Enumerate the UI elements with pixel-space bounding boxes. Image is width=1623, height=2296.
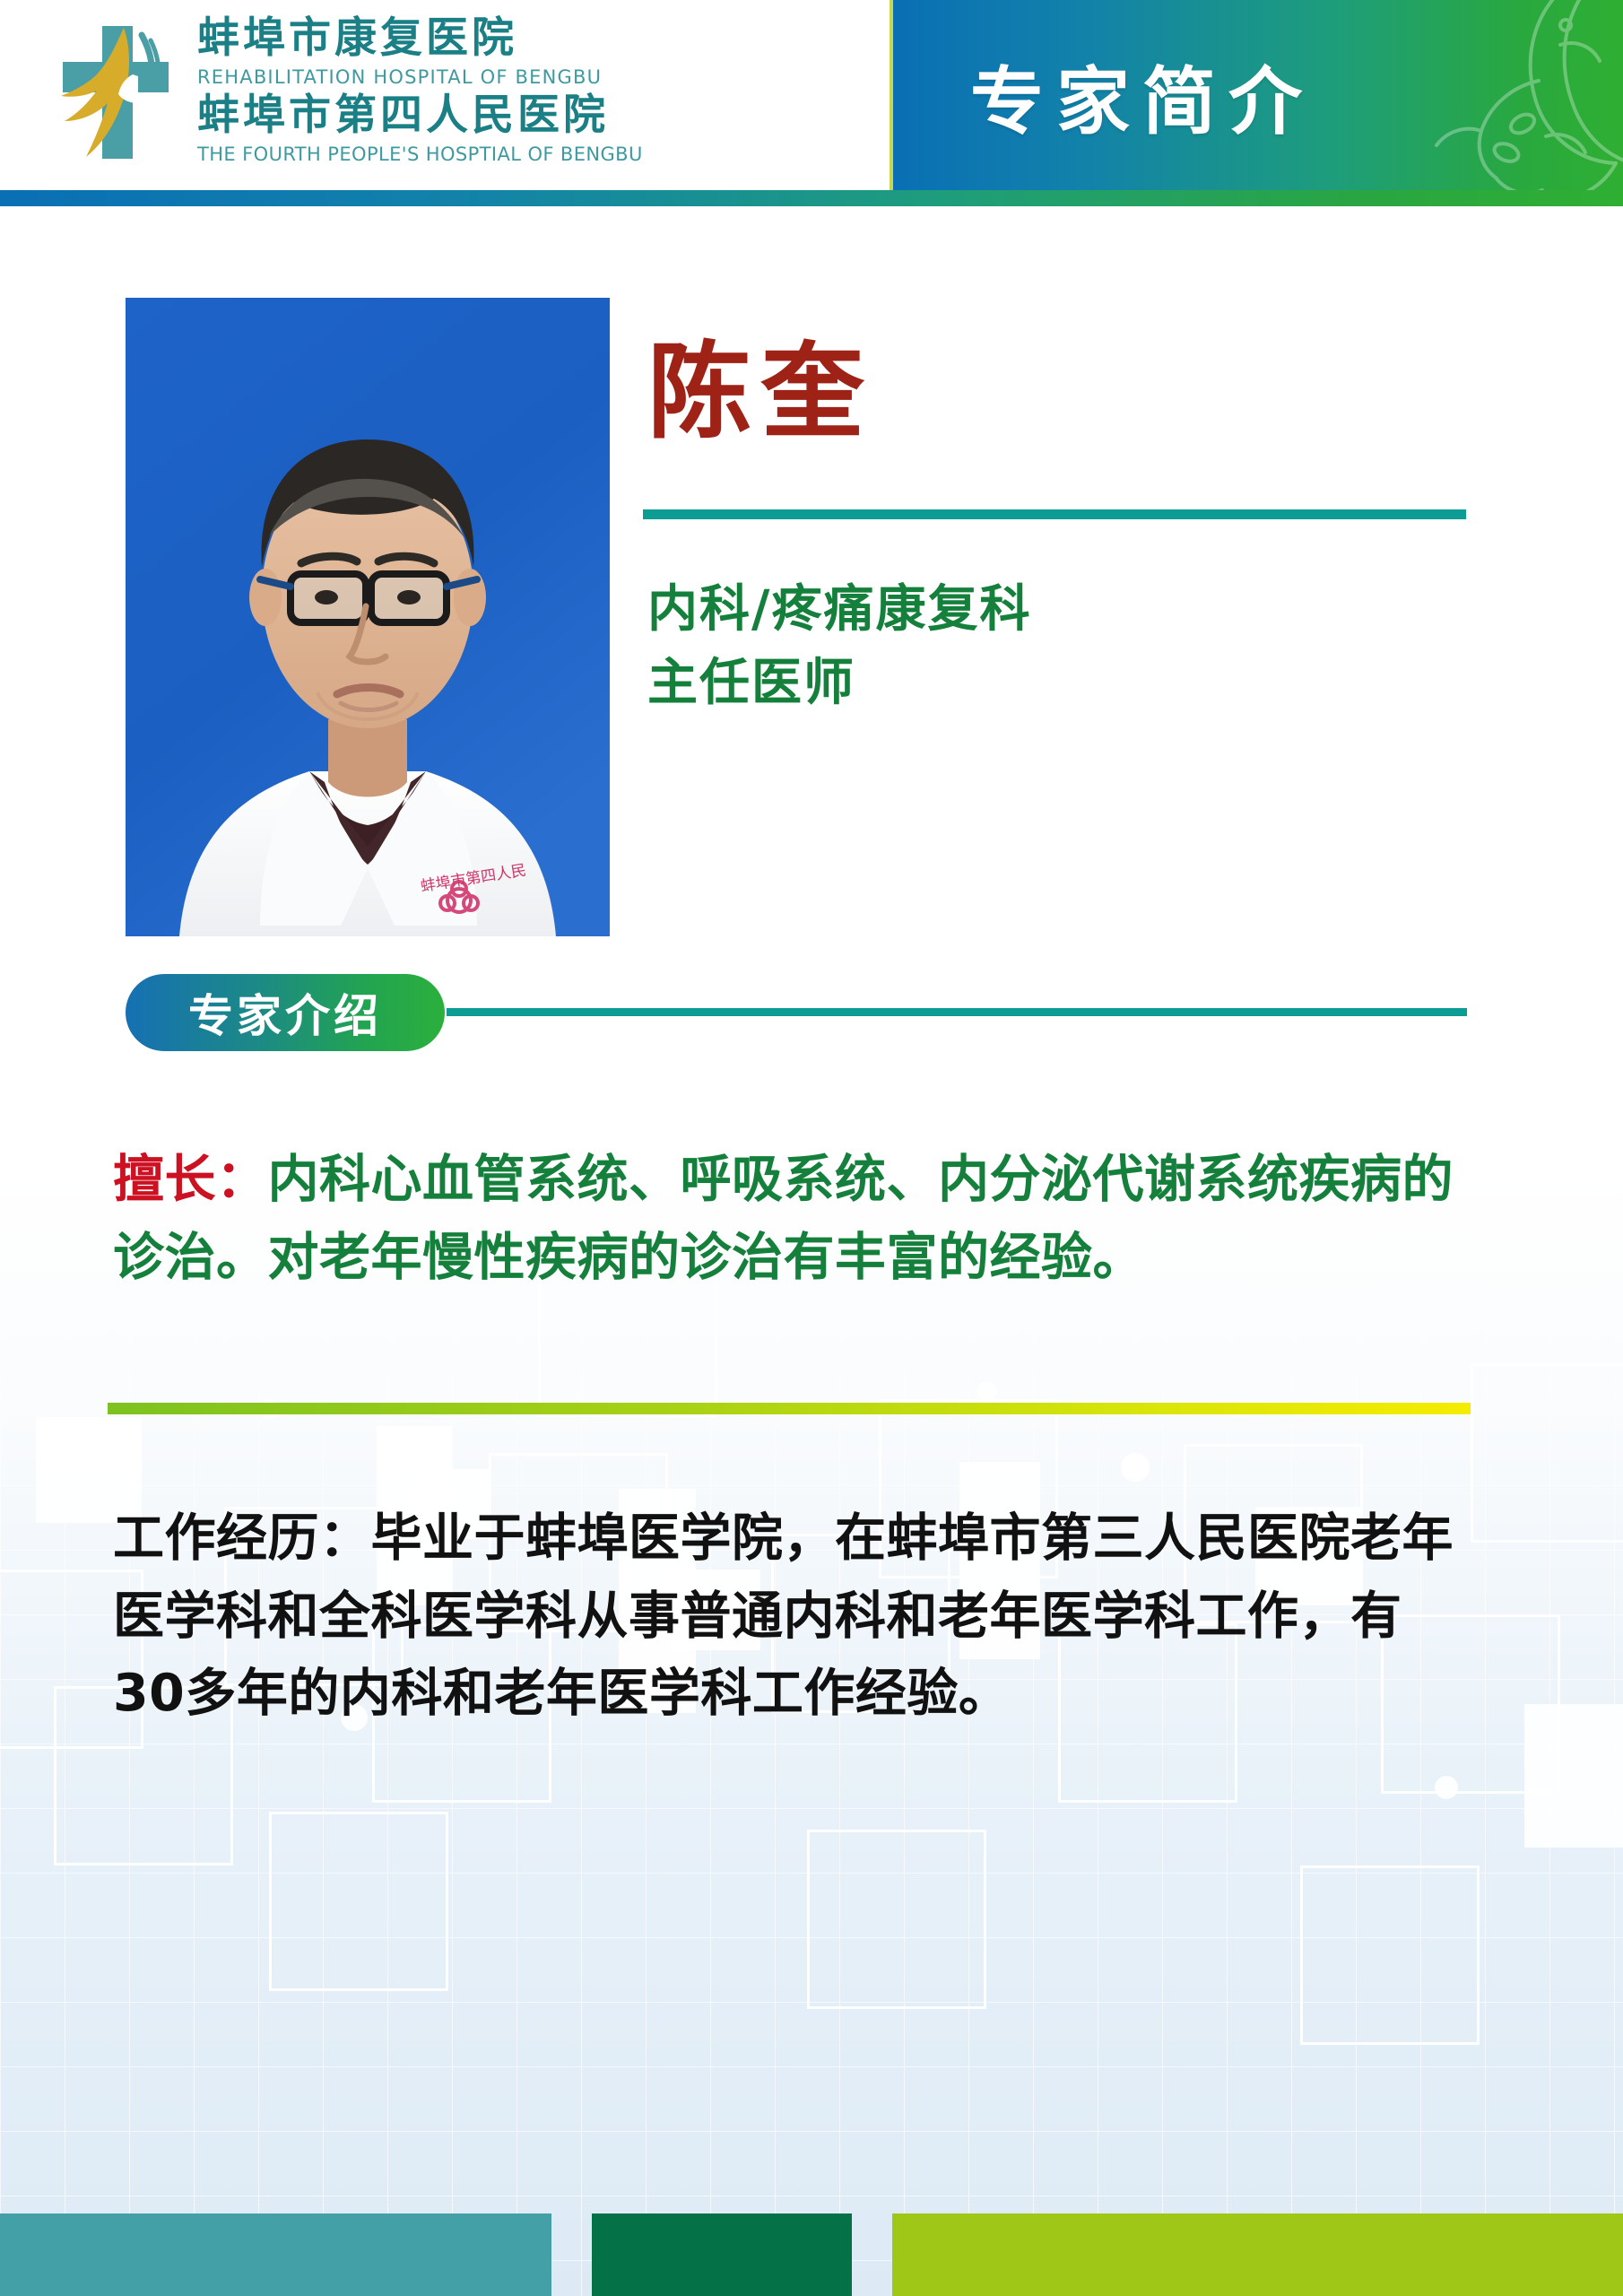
- section-divider-bar: [108, 1403, 1471, 1414]
- banner-title: 专家简介: [970, 42, 1315, 149]
- doctor-rank: 主任医师: [647, 648, 855, 719]
- footer-block-teal: [0, 2213, 551, 2296]
- footer-block-lime: [892, 2213, 1623, 2296]
- specialty-label: 擅长：: [113, 1150, 268, 1209]
- section-badge-rule: [447, 1008, 1467, 1016]
- specialty-paragraph: 擅长：内科心血管系统、呼吸系统、内分泌代谢系统疾病的诊治。对老年慢性疾病的诊治有…: [113, 1141, 1469, 1296]
- hospital-name-en-primary: REHABILITATION HOSPITAL OF BENGBU: [197, 64, 643, 92]
- hospital-name-cn-secondary: 蚌埠市第四人民医院: [197, 93, 643, 139]
- doctor-name: 陈奎: [647, 341, 873, 445]
- footer-block-dark-green: [592, 2213, 852, 2296]
- hospital-name-en-secondary: THE FOURTH PEOPLE'S HOSPTIAL OF BENGBU: [197, 141, 643, 170]
- page-banner: 专家简介: [890, 0, 1623, 190]
- header-accent-bar: [0, 190, 1623, 206]
- section-badge-label: 专家介绍: [188, 980, 382, 1045]
- specialty-text: 内科心血管系统、呼吸系统、内分泌代谢系统疾病的诊治。对老年慢性疾病的诊治有丰富的…: [113, 1150, 1454, 1287]
- hospital-name-cn-primary: 蚌埠市康复医院: [197, 16, 643, 62]
- poster-page: 蚌埠市康复医院 REHABILITATION HOSPITAL OF BENGB…: [0, 0, 1623, 2296]
- background-cross-pattern: [0, 1238, 1623, 2296]
- section-badge-expert-intro: 专家介绍: [126, 974, 445, 1051]
- name-divider-rule: [643, 509, 1466, 519]
- hospital-cross-bird-logo-icon: [56, 21, 174, 164]
- doctor-department: 内科/疼痛康复科: [647, 574, 1031, 646]
- experience-label: 工作经历：: [113, 1509, 371, 1568]
- doctor-portrait-photo: 蚌埠市第四人民: [126, 298, 610, 936]
- page-header: 蚌埠市康复医院 REHABILITATION HOSPITAL OF BENGB…: [0, 0, 1623, 190]
- phoenix-leaf-ornament-icon: [1347, 0, 1623, 190]
- page-footer: [0, 2213, 1623, 2296]
- experience-paragraph: 工作经历：毕业于蚌埠医学院，在蚌埠市第三人民医院老年医学科和全科医学科从事普通内…: [113, 1500, 1469, 1733]
- hospital-logo-text: 蚌埠市康复医院 REHABILITATION HOSPITAL OF BENGB…: [197, 16, 643, 170]
- hospital-logo: 蚌埠市康复医院 REHABILITATION HOSPITAL OF BENGB…: [56, 16, 643, 170]
